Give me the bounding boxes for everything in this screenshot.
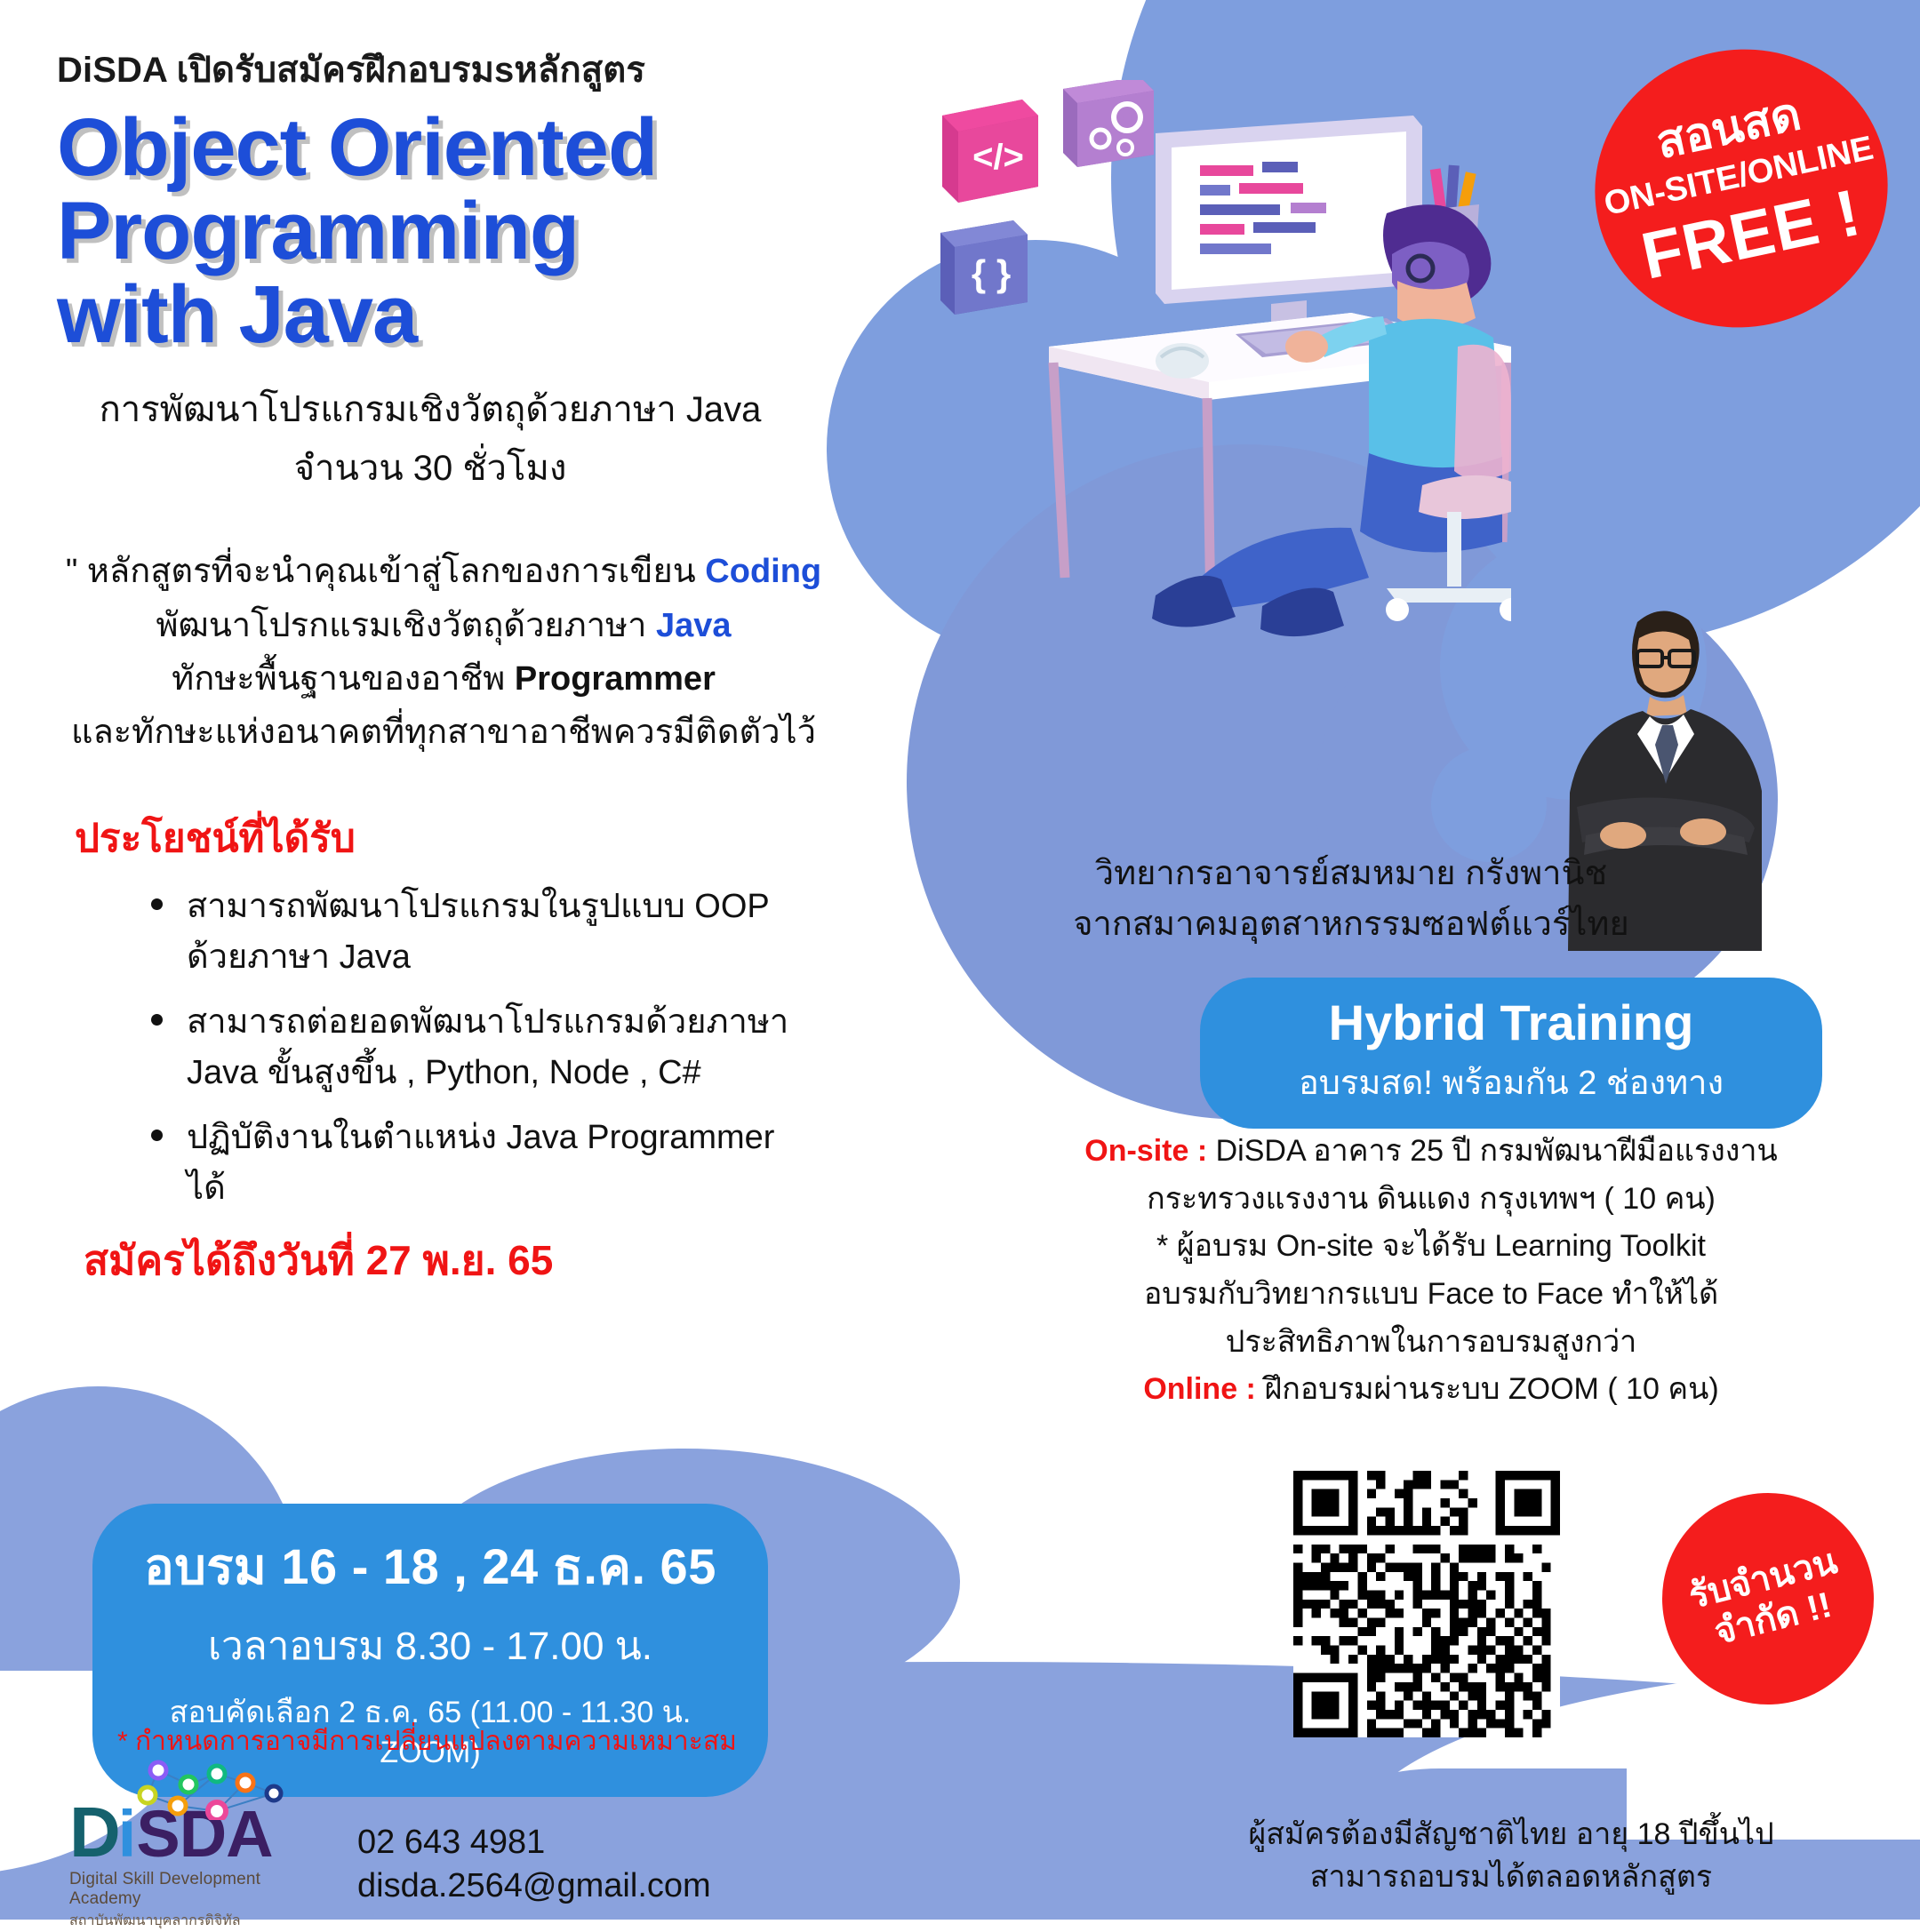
course-quote: " หลักสูตรที่จะนำคุณเข้าสู่โลกของการเขีย…	[57, 545, 830, 758]
quote-line-1: " หลักสูตรที่จะนำคุณเข้าสู่โลกของการเขีย…	[57, 545, 830, 598]
braces-icon: { }	[940, 220, 1028, 315]
status-badge-limited-seats: รับจำนวน จำกัด !!	[1640, 1471, 1897, 1728]
application-deadline: สมัครได้ถึงวันที่ 27 พ.ย. 65	[84, 1228, 955, 1293]
svg-text:{ }: { }	[972, 252, 1011, 294]
eligibility-note: ผู้สมัครต้องมีสัญชาติไทย อายุ 18 ปีขึ้นไ…	[1200, 1813, 1822, 1899]
gears-icon	[1063, 80, 1154, 167]
logo-tagline-en: Digital Skill Development Academy	[69, 1870, 327, 1909]
onsite-label: On-site :	[1084, 1134, 1207, 1168]
training-mode-details: On-site : DiSDA อาคาร 25 ปี กรมพัฒนาฝีมื…	[1031, 1129, 1831, 1415]
online-description: ฝึกอบรมผ่านระบบ ZOOM ( 10 คน)	[1256, 1372, 1719, 1406]
computer-monitor	[1156, 116, 1422, 348]
quote-line-2-text: พัฒนาโปรกแรมเชิงวัตถุด้วยภาษา	[156, 607, 656, 644]
subtitle-line-1: การพัฒนาโปรแกรมเชิงวัตถุด้วยภาษา Java	[57, 383, 804, 436]
onsite-venue: DiSDA อาคาร 25 ปี กรมพัฒนาฝีมือแรงงาน	[1207, 1134, 1778, 1168]
list-item: สามารถต่อยอดพัฒนาโปรแกรมด้วยภาษา Java ขั…	[146, 997, 804, 1098]
quote-line-3: ทักษะพื้นฐานของอาชีพ Programmer	[57, 652, 830, 706]
quote-highlight-coding: Coding	[705, 553, 821, 590]
contact-email: disda.2564@gmail.com	[357, 1867, 711, 1905]
hybrid-training-card: Hybrid Training อบรมสด! พร้อมกัน 2 ช่องท…	[1200, 978, 1822, 1129]
quote-line-1-text: " หลักสูตรที่จะนำคุณเข้าสู่โลกของการเขีย…	[66, 553, 705, 590]
disda-logo: DiSDA Digital Skill Development Academy …	[69, 1797, 327, 1932]
developer-at-desk-illustration: </> { }	[889, 80, 1511, 649]
onsite-line-2: กระทรวงแรงงาน ดินแดง กรุงเทพฯ ( 10 คน)	[1031, 1177, 1831, 1223]
training-time: เวลาอบรม 8.30 - 17.00 น.	[124, 1615, 736, 1677]
title-line-2: Programming	[57, 190, 955, 274]
training-dates: อบรม 16 - 18 , 24 ธ.ค. 65	[124, 1527, 736, 1606]
contact-phone: 02 643 4981	[357, 1824, 711, 1862]
onsite-line-3: * ผู้อบรม On-site จะได้รับ Learning Tool…	[1031, 1224, 1831, 1270]
list-item: ปฏิบัติงานในตำแหน่ง Java Programmer ได้	[146, 1113, 804, 1214]
status-badge-free: สอนสด ON-SITE/ONLINE FREE !	[1569, 22, 1914, 355]
left-content-column: DiSDA เปิดรับสมัครฝึกอบรมsหลักสูตร Objec…	[57, 41, 955, 1293]
onsite-line-5: ประสิทธิภาพในการอบรมสูงกว่า	[1031, 1320, 1831, 1366]
eligibility-line-2: สามารถอบรมได้ตลอดหลักสูตร	[1200, 1856, 1822, 1898]
benefits-heading: ประโยชน์ที่ได้รับ	[75, 807, 955, 869]
subtitle: การพัฒนาโปรแกรมเชิงวัตถุด้วยภาษา Java จำ…	[57, 383, 804, 495]
eligibility-line-1: ผู้สมัครต้องมีสัญชาติไทย อายุ 18 ปีขึ้นไ…	[1200, 1813, 1822, 1856]
code-tag-icon: </>	[942, 100, 1038, 203]
instructor-info: วิทยากรอาจารย์สมหมาย กรังพานิช จากสมาคมอ…	[1022, 849, 1680, 950]
quote-highlight-programmer: Programmer	[515, 660, 716, 698]
online-label: Online :	[1143, 1372, 1256, 1406]
network-graphic-icon	[132, 1758, 309, 1820]
contact-info: 02 643 4981 disda.2564@gmail.com	[357, 1824, 711, 1905]
hybrid-training-title: Hybrid Training	[1227, 994, 1796, 1051]
qr-code[interactable]	[1293, 1471, 1560, 1737]
footer-left: DiSDA Digital Skill Development Academy …	[69, 1797, 711, 1932]
online-line: Online : ฝึกอบรมผ่านระบบ ZOOM ( 10 คน)	[1031, 1367, 1831, 1413]
hybrid-training-subtitle: อบรมสด! พร้อมกัน 2 ช่องทาง	[1227, 1055, 1796, 1109]
title-line-3: with Java	[57, 274, 955, 357]
eyebrow-text: DiSDA เปิดรับสมัครฝึกอบรมsหลักสูตร	[57, 41, 955, 98]
onsite-line-1: On-site : DiSDA อาคาร 25 ปี กรมพัฒนาฝีมื…	[1031, 1129, 1831, 1175]
subtitle-line-2: จำนวน 30 ชั่วโมง	[57, 442, 804, 495]
logo-letter-d: D	[69, 1797, 118, 1868]
title-line-1: Object Oriented	[57, 107, 955, 190]
schedule-disclaimer: * กำหนดการอาจมีการเปลี่ยนแปลงตามความเหมา…	[117, 1720, 737, 1762]
quote-highlight-java: Java	[656, 607, 732, 644]
logo-tagline-th: สถาบันพัฒนาบุคลากรดิจิทัล	[69, 1910, 327, 1932]
quote-line-4: และทักษะแห่งอนาคตที่ทุกสาขาอาชีพควรมีติด…	[57, 706, 830, 759]
quote-line-3-text: ทักษะพื้นฐานของอาชีพ	[172, 660, 515, 698]
quote-line-2: พัฒนาโปรกแรมเชิงวัตถุด้วยภาษา Java	[57, 599, 830, 652]
onsite-line-4: อบรมกับวิทยากรแบบ Face to Face ทำให้ได้	[1031, 1272, 1831, 1318]
instructor-name: วิทยากรอาจารย์สมหมาย กรังพานิช	[1022, 849, 1680, 899]
svg-text:</>: </>	[972, 138, 1024, 177]
list-item: สามารถพัฒนาโปรแกรมในรูปแบบ OOP ด้วยภาษา …	[146, 882, 804, 983]
page-title: Object Oriented Programming with Java	[57, 107, 955, 356]
poster-root: DiSDA เปิดรับสมัครฝึกอบรมsหลักสูตร Objec…	[0, 0, 1920, 1920]
instructor-organization: จากสมาคมอุตสาหกรรมซอฟต์แวร์ไทย	[1022, 899, 1680, 950]
benefits-list: สามารถพัฒนาโปรแกรมในรูปแบบ OOP ด้วยภาษา …	[146, 882, 804, 1214]
